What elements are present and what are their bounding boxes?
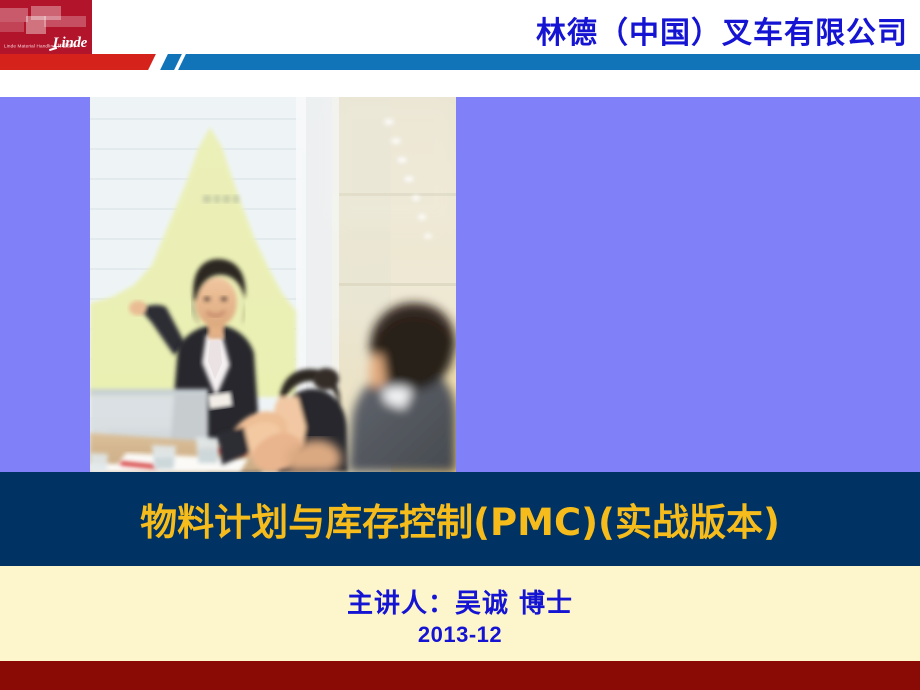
presentation-slide: Linde Material Handling 林德叉车 Linde 林德（中国…	[0, 0, 920, 690]
slide-header: Linde Material Handling 林德叉车 Linde 林德（中国…	[0, 0, 920, 70]
seminar-presentation-photo	[90, 97, 456, 472]
logo-accent-square	[26, 16, 46, 34]
presentation-date: 2013-12	[418, 622, 502, 648]
logo-accent-square	[0, 8, 28, 22]
linde-logo: Linde Material Handling 林德叉车 Linde	[0, 0, 92, 55]
company-name-heading: 林德（中国）叉车有限公司	[536, 8, 908, 52]
slide-title-band: 物料计划与库存控制(PMC)(实战版本)	[0, 472, 920, 566]
presenter-name: 主讲人：吴诚 博士	[347, 583, 573, 620]
presenter-band: 主讲人：吴诚 博士 2013-12	[0, 566, 920, 661]
header-accent-bar-red	[0, 54, 168, 70]
logo-accent-square	[0, 22, 24, 32]
logo-wordmark: Linde	[53, 35, 87, 52]
page-title: 物料计划与库存控制(PMC)(实战版本)	[140, 492, 780, 546]
logo-accent-square	[44, 16, 86, 27]
slide-footer-bar	[0, 661, 920, 690]
header-accent-bar-blue	[168, 54, 920, 70]
